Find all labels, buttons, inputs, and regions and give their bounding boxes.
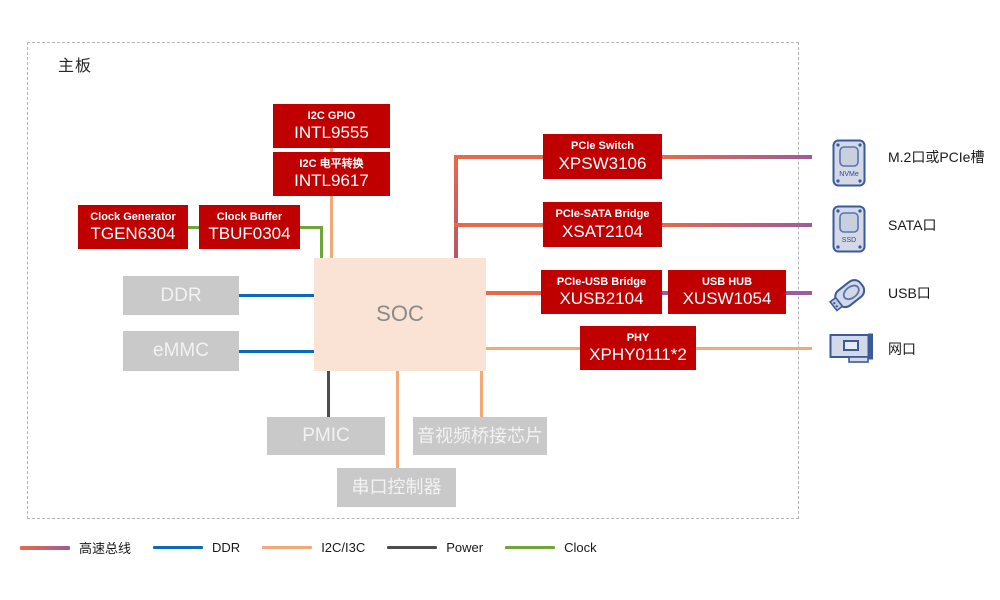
line-soc-to-av-bridge [480, 370, 483, 418]
legend-label: Power [446, 540, 483, 555]
chip-part-number: TBUF0304 [208, 224, 290, 243]
memory-label: DDR [160, 285, 201, 306]
legend: 高速总线 DDR I2C/I3C Power Clock [20, 538, 619, 557]
port-icon-nvme[interactable]: NVMe [831, 138, 867, 193]
line-bus-to-pcie-switch [454, 155, 546, 159]
chip-part-number: INTL9555 [294, 123, 369, 142]
legend-item-highspeed-bus: 高速总线 [20, 538, 131, 557]
memory-label: eMMC [153, 340, 209, 361]
chip-pcie-sata-bridge[interactable]: PCIe-SATA Bridge XSAT2104 [543, 202, 662, 247]
chip-part-number: XPSW3106 [559, 154, 647, 173]
motherboard-title: 主板 [58, 52, 92, 76]
legend-item-ddr: DDR [153, 540, 240, 555]
legend-swatch-i2c [262, 546, 312, 549]
legend-label: 高速总线 [79, 538, 131, 557]
line-clock-buffer-to-soc [320, 226, 323, 259]
port-label-m2: M.2口或PCIe槽 [888, 147, 984, 167]
port-icon-usb[interactable] [829, 272, 871, 321]
line-bus-to-pcie-sata-bridge [454, 223, 546, 227]
soc-label: SOC [376, 302, 424, 327]
chip-part-number: TGEN6304 [90, 224, 175, 243]
line-usb-hub-to-usb-port [784, 291, 812, 295]
line-bus-trunk-vertical [454, 157, 458, 259]
chip-part-number: XUSW1054 [683, 289, 772, 308]
chip-subtitle: I2C 电平转换 [299, 158, 363, 170]
memory-block-emmc[interactable]: eMMC [123, 331, 239, 371]
peripheral-label: PMIC [302, 425, 350, 446]
chip-subtitle: PCIe-SATA Bridge [556, 208, 650, 220]
line-pcie-switch-to-m2-port [660, 155, 812, 159]
chip-pcie-switch[interactable]: PCIe Switch XPSW3106 [543, 134, 662, 179]
peripheral-label: 串口控制器 [352, 477, 442, 497]
legend-swatch-highspeed-bus [20, 546, 70, 550]
ssd-drive-icon: SSD [831, 204, 867, 254]
chip-clock-generator[interactable]: Clock Generator TGEN6304 [78, 205, 188, 249]
chip-subtitle: PCIe Switch [571, 140, 634, 152]
legend-label: I2C/I3C [321, 540, 365, 555]
line-ddr-to-soc [239, 294, 316, 297]
chip-part-number: XUSB2104 [559, 289, 643, 308]
port-label-sata: SATA口 [888, 215, 937, 235]
network-card-icon [829, 332, 879, 366]
legend-item-power: Power [387, 540, 483, 555]
legend-swatch-clock [505, 546, 555, 549]
legend-swatch-power [387, 546, 437, 549]
svg-text:NVMe: NVMe [839, 171, 859, 178]
chip-subtitle: I2C GPIO [308, 110, 356, 122]
chip-subtitle: PCIe-USB Bridge [557, 276, 646, 288]
port-label-usb: USB口 [888, 283, 931, 303]
line-soc-to-pmic [327, 370, 330, 418]
chip-part-number: XSAT2104 [562, 222, 643, 241]
diagram-canvas: 主板 I2C GPIO INTL9555 I2C 电平转换 INTL9617 [0, 0, 1000, 600]
line-i2c-level-shift-to-soc [330, 196, 333, 259]
chip-i2c-gpio[interactable]: I2C GPIO INTL9555 [273, 104, 390, 148]
peripheral-block-serial-controller[interactable]: 串口控制器 [337, 468, 456, 507]
line-soc-to-phy [485, 347, 583, 350]
chip-subtitle: PHY [627, 332, 650, 344]
chip-part-number: INTL9617 [294, 171, 369, 190]
legend-item-clock: Clock [505, 540, 597, 555]
port-icon-ssd[interactable]: SSD [831, 204, 867, 259]
chip-phy[interactable]: PHY XPHY0111*2 [580, 326, 696, 370]
legend-label: Clock [564, 540, 597, 555]
chip-usb-hub[interactable]: USB HUB XUSW1054 [668, 270, 786, 314]
port-icon-network[interactable] [829, 332, 879, 371]
chip-clock-buffer[interactable]: Clock Buffer TBUF0304 [199, 205, 300, 249]
peripheral-block-av-bridge[interactable]: 音视频桥接芯片 [413, 417, 547, 455]
peripheral-block-pmic[interactable]: PMIC [267, 417, 385, 455]
peripheral-label: 音视频桥接芯片 [417, 426, 543, 446]
line-pcie-sata-to-sata-port [660, 223, 812, 227]
line-emmc-to-soc [239, 350, 316, 353]
port-label-network: 网口 [888, 339, 916, 359]
line-soc-to-serial-controller [396, 370, 399, 468]
soc-block[interactable]: SOC [314, 258, 486, 371]
chip-subtitle: USB HUB [702, 276, 752, 288]
usb-stick-icon [829, 272, 871, 316]
svg-text:SSD: SSD [842, 237, 856, 244]
chip-i2c-level-shifter[interactable]: I2C 电平转换 INTL9617 [273, 152, 390, 196]
chip-subtitle: Clock Generator [90, 211, 176, 223]
memory-block-ddr[interactable]: DDR [123, 276, 239, 315]
legend-swatch-ddr [153, 546, 203, 549]
line-phy-to-network-port [693, 347, 812, 350]
chip-part-number: XPHY0111*2 [589, 345, 687, 364]
legend-label: DDR [212, 540, 240, 555]
nvme-drive-icon: NVMe [831, 138, 867, 188]
legend-item-i2c: I2C/I3C [262, 540, 365, 555]
line-soc-to-pcie-usb-bridge [485, 291, 545, 295]
chip-pcie-usb-bridge[interactable]: PCIe-USB Bridge XUSB2104 [541, 270, 662, 314]
chip-subtitle: Clock Buffer [217, 211, 282, 223]
